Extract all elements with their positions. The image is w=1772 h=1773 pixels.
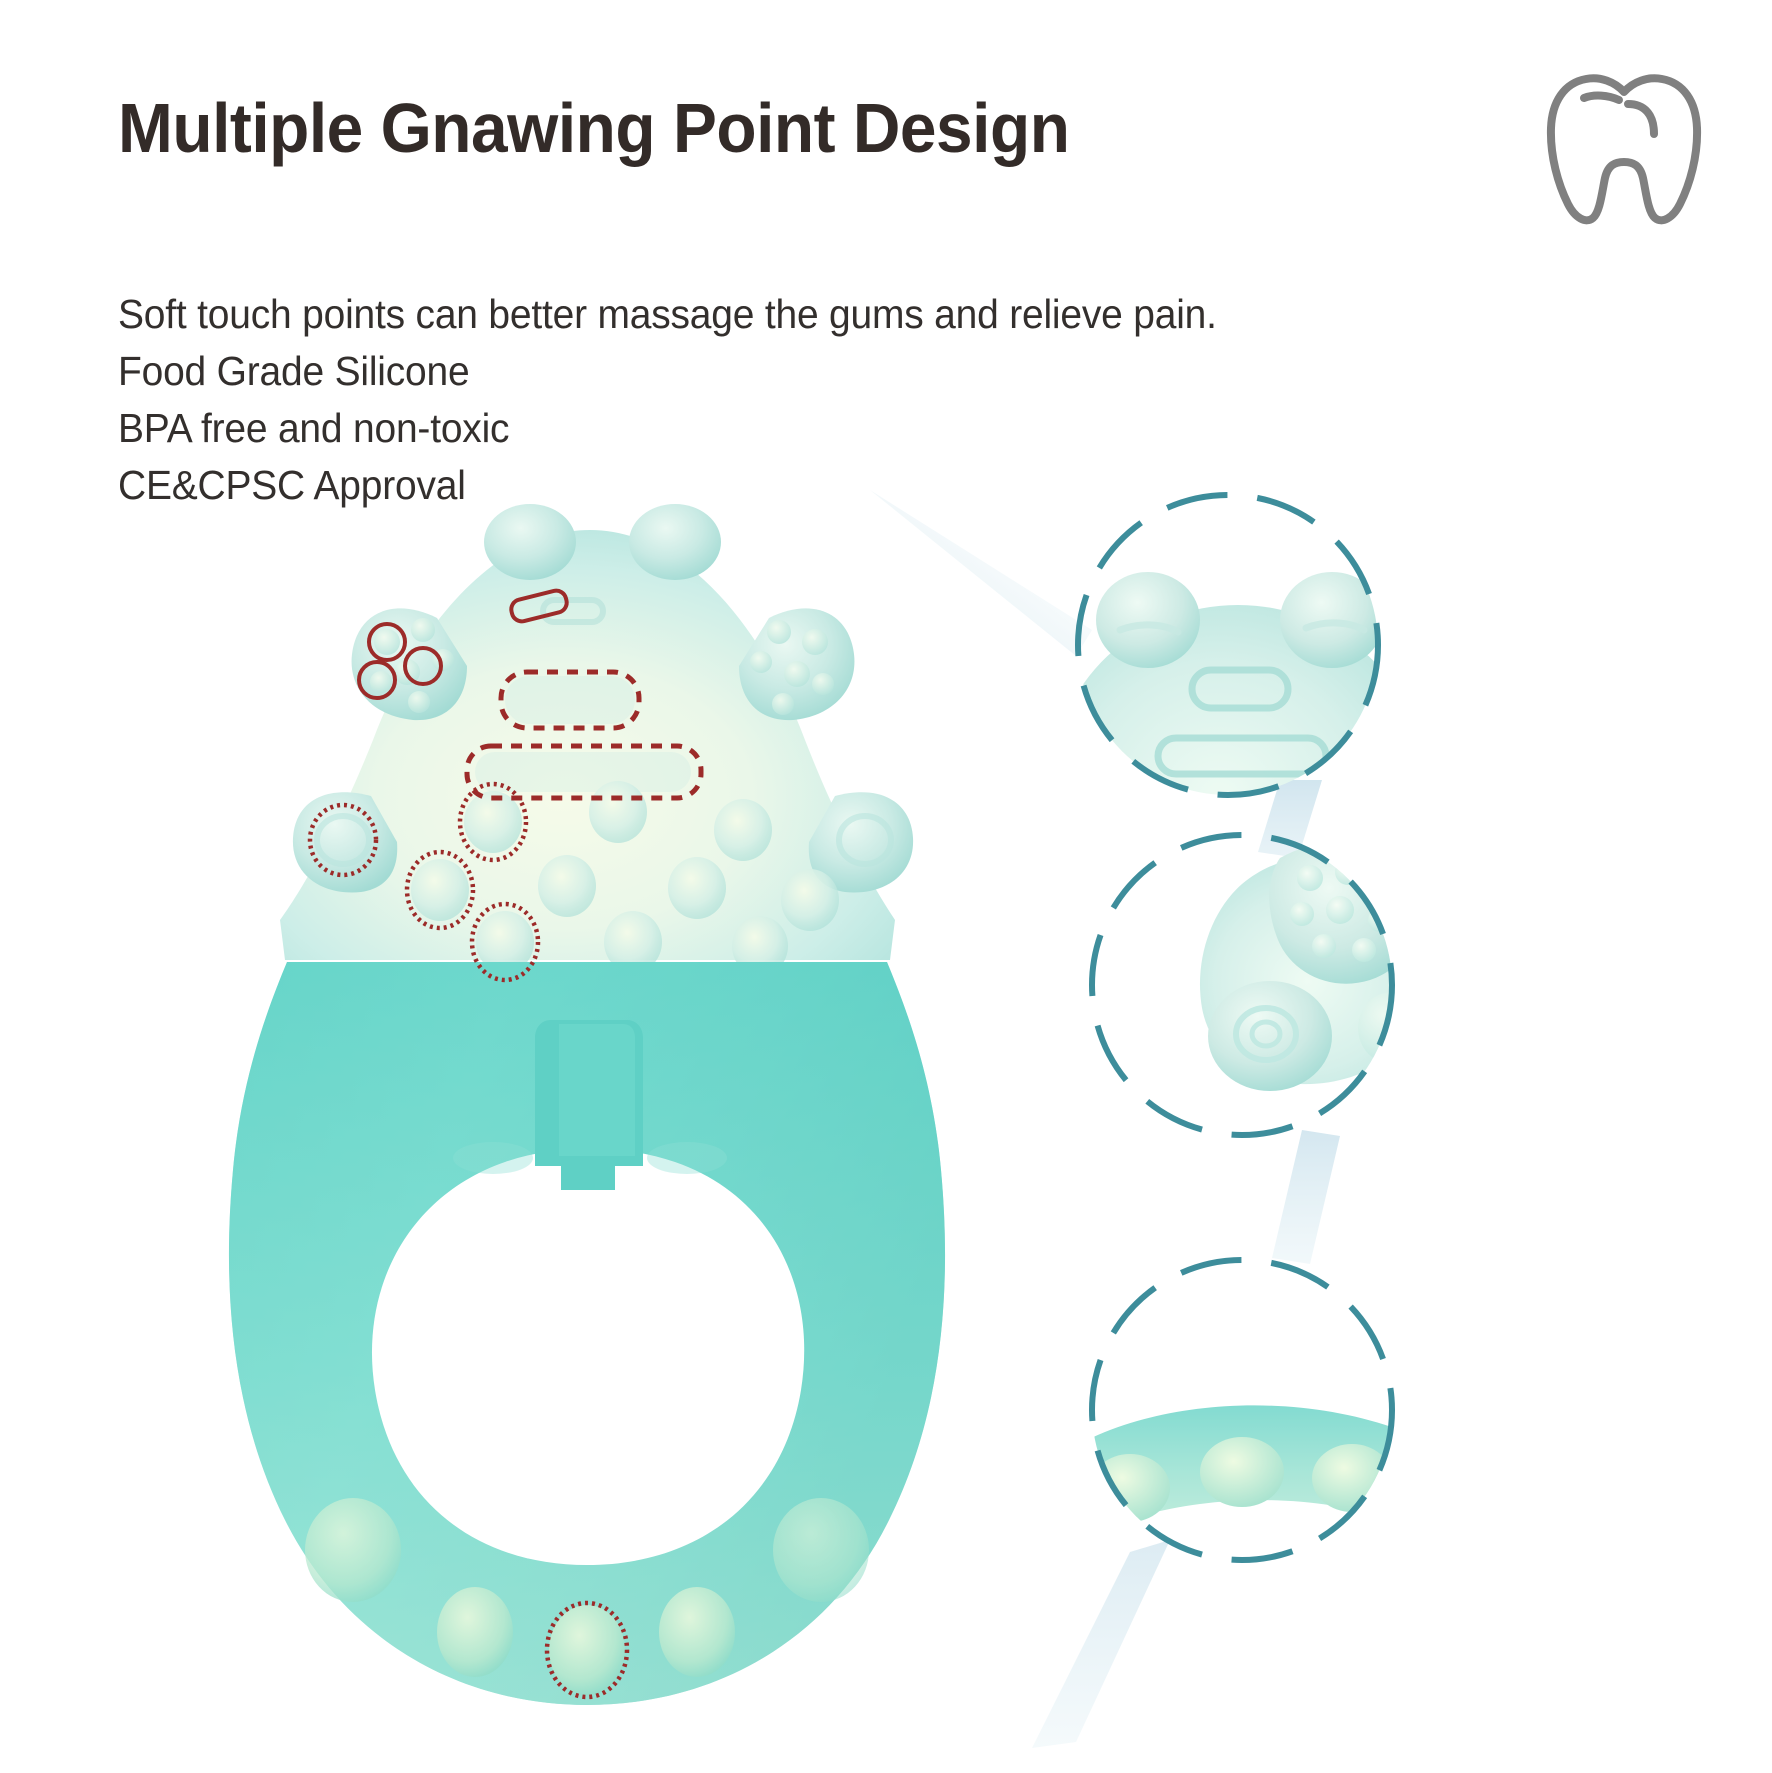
detail-callouts (980, 480, 1400, 1750)
center-tab (535, 1020, 643, 1190)
page-title: Multiple Gnawing Point Design (118, 92, 1069, 166)
connector-ribbon-3 (1272, 1130, 1340, 1264)
copy-line-2: Food Grade Silicone (118, 343, 1353, 400)
copy-line-1: Soft touch points can better massage the… (118, 286, 1353, 343)
marketing-image-canvas: Multiple Gnawing Point Design Soft touch… (0, 0, 1772, 1773)
teether-head (280, 504, 913, 976)
teether-ring-body (229, 962, 945, 1705)
callout-head-top-detail (1053, 495, 1423, 955)
connector-ribbon-4 (1032, 1540, 1170, 1748)
tooth-icon (1536, 52, 1712, 232)
callout-side-nub-detail (1092, 835, 1439, 1135)
product-photo-teether (175, 490, 1005, 1740)
copy-line-3: BPA free and non-toxic (118, 400, 1353, 457)
callout-ring-band-detail (1040, 1260, 1410, 1560)
